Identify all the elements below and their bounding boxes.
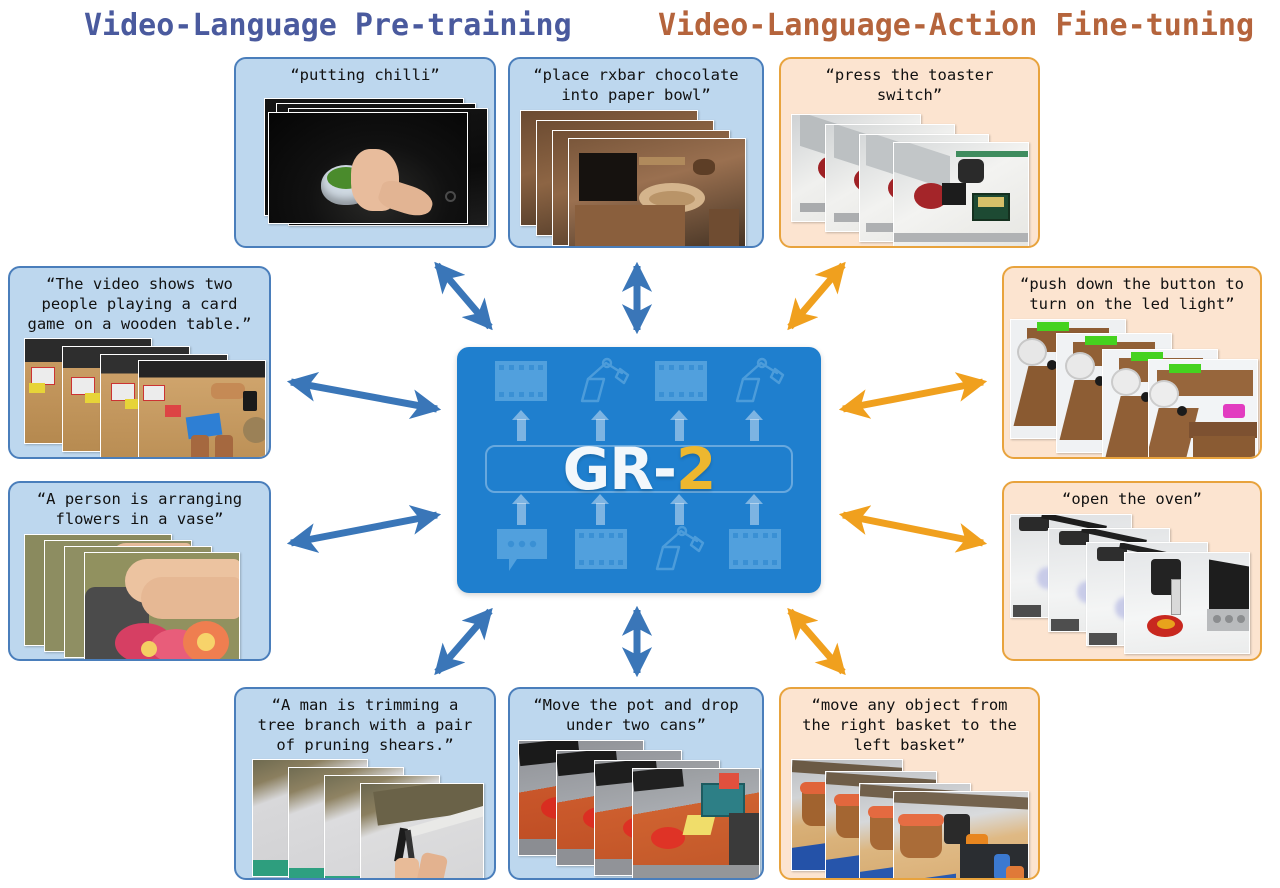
arrow-center-to-card-game [291,382,437,409]
arrow-center-to-toaster [790,265,843,327]
arrow-center-to-trimming-branch [437,611,490,672]
arrow-center-to-flowers [291,515,437,543]
arrow-center-to-led-light [843,382,983,409]
connector-arrows-layer [0,0,1280,888]
arrow-center-to-putting-chilli [437,265,490,327]
arrow-center-to-oven [843,515,983,543]
arrow-center-to-basket-transfer [790,611,843,672]
